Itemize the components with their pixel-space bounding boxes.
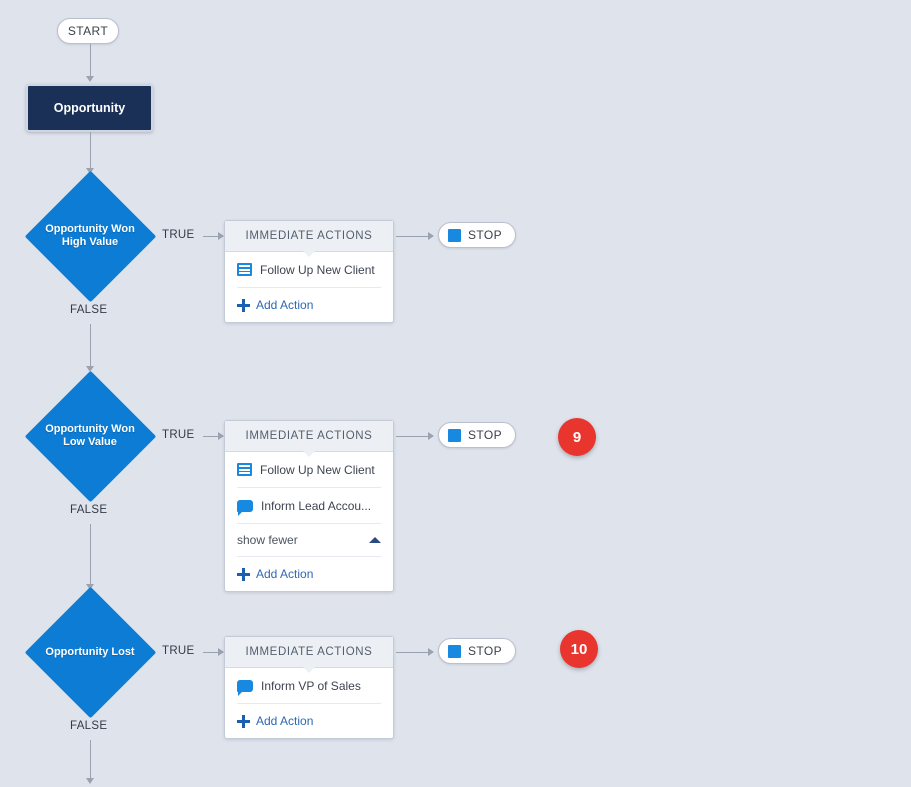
add-action-label: Add Action [256, 567, 313, 581]
edge-label-true-2: TRUE [162, 429, 195, 441]
show-fewer-toggle[interactable]: show fewer [237, 524, 381, 557]
action-item[interactable]: Inform Lead Accou... [237, 488, 381, 524]
edge-decision-2-false [90, 524, 91, 586]
stop-square-icon [448, 429, 461, 442]
immediate-actions-panel-1[interactable]: IMMEDIATE ACTIONS Follow Up New Client A… [224, 220, 394, 323]
action-item[interactable]: Inform VP of Sales [237, 668, 381, 704]
arrow-start-to-opportunity [86, 76, 94, 82]
edge-label-true-1: TRUE [162, 229, 195, 241]
edge-label-false-2: FALSE [70, 504, 107, 516]
panel-header-1: IMMEDIATE ACTIONS [225, 221, 393, 252]
action-item-label: Inform VP of Sales [261, 679, 361, 693]
chat-icon [237, 500, 253, 512]
stop-node-1[interactable]: STOP [438, 222, 516, 248]
step-badge-10: 10 [560, 630, 598, 668]
edge-label-false-1: FALSE [70, 304, 107, 316]
plus-icon [237, 715, 250, 728]
immediate-actions-panel-3[interactable]: IMMEDIATE ACTIONS Inform VP of Sales Add… [224, 636, 394, 739]
edge-decision-3-false [90, 740, 91, 780]
edge-label-true-3: TRUE [162, 645, 195, 657]
panel-header-2: IMMEDIATE ACTIONS [225, 421, 393, 452]
action-item[interactable]: Follow Up New Client [237, 452, 381, 488]
panel-body-2: Follow Up New Client Inform Lead Accou..… [225, 452, 393, 591]
stop-square-icon [448, 645, 461, 658]
panel-body-3: Inform VP of Sales Add Action [225, 668, 393, 738]
edge-opportunity-to-decision-1 [90, 132, 91, 170]
add-action-button-3[interactable]: Add Action [237, 704, 381, 738]
edge-panel-2-to-stop [396, 436, 432, 437]
panel-body-1: Follow Up New Client Add Action [225, 252, 393, 322]
list-icon [237, 263, 252, 276]
opportunity-process-label: Opportunity [54, 101, 126, 115]
action-item[interactable]: Follow Up New Client [237, 252, 381, 288]
immediate-actions-panel-2[interactable]: IMMEDIATE ACTIONS Follow Up New Client I… [224, 420, 394, 592]
decision-node-opportunity-lost[interactable]: Opportunity Lost [24, 586, 156, 718]
edge-panel-3-to-stop [396, 652, 432, 653]
stop-node-2[interactable]: STOP [438, 422, 516, 448]
start-node[interactable]: START [57, 18, 119, 44]
add-action-button-2[interactable]: Add Action [237, 557, 381, 591]
start-node-label: START [68, 24, 108, 38]
plus-icon [237, 299, 250, 312]
edge-label-false-3: FALSE [70, 720, 107, 732]
flowchart-canvas: START Opportunity Opportunity Won High V… [0, 0, 911, 787]
edge-decision-1-false [90, 324, 91, 368]
stop-node-label: STOP [468, 644, 502, 658]
chat-icon [237, 680, 253, 692]
show-fewer-label: show fewer [237, 533, 298, 547]
arrow-panel-1-to-stop [428, 232, 434, 240]
stop-node-3[interactable]: STOP [438, 638, 516, 664]
add-action-label: Add Action [256, 714, 313, 728]
decision-node-opportunity-won-high-value[interactable]: Opportunity Won High Value [24, 170, 156, 302]
add-action-label: Add Action [256, 298, 313, 312]
action-item-label: Inform Lead Accou... [261, 499, 371, 513]
diamond-shape [24, 170, 156, 302]
action-item-label: Follow Up New Client [260, 463, 375, 477]
diamond-shape [24, 370, 156, 502]
diamond-shape [24, 586, 156, 718]
add-action-button-1[interactable]: Add Action [237, 288, 381, 322]
panel-header-3: IMMEDIATE ACTIONS [225, 637, 393, 668]
stop-node-label: STOP [468, 228, 502, 242]
decision-node-opportunity-won-low-value[interactable]: Opportunity Won Low Value [24, 370, 156, 502]
stop-square-icon [448, 229, 461, 242]
opportunity-process-node[interactable]: Opportunity [26, 84, 153, 132]
arrow-decision-3-false [86, 778, 94, 784]
plus-icon [237, 568, 250, 581]
edge-start-to-opportunity [90, 44, 91, 76]
arrow-panel-3-to-stop [428, 648, 434, 656]
stop-node-label: STOP [468, 428, 502, 442]
list-icon [237, 463, 252, 476]
step-badge-9: 9 [558, 418, 596, 456]
arrow-panel-2-to-stop [428, 432, 434, 440]
action-item-label: Follow Up New Client [260, 263, 375, 277]
edge-panel-1-to-stop [396, 236, 432, 237]
chevron-up-icon [369, 537, 381, 543]
